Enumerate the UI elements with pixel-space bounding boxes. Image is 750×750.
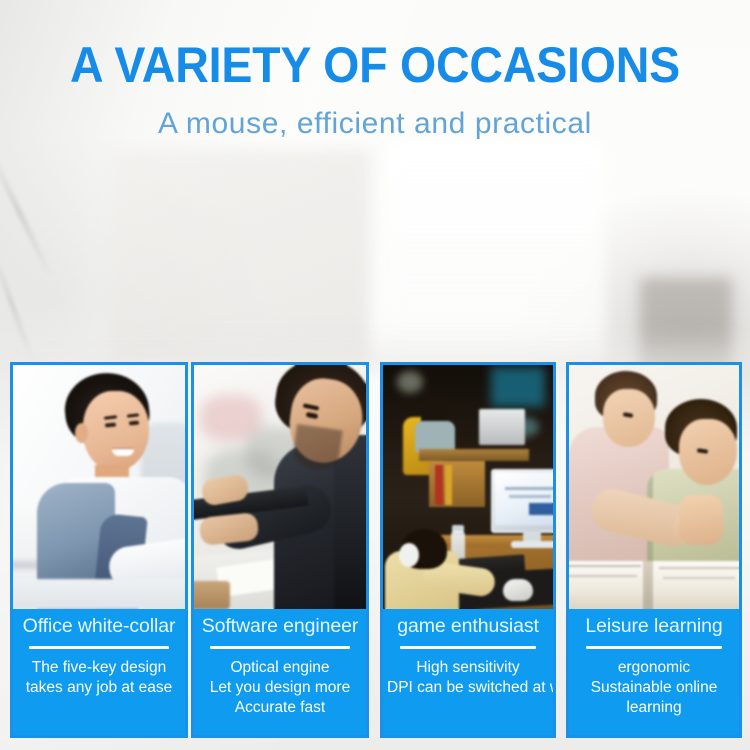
occasion-card-office-white-collar[interactable]: Office white-collar The five-key design … (10, 362, 188, 738)
caption-divider (210, 646, 350, 649)
card-title: Office white-collar (17, 613, 181, 639)
card-desc-line: Sustainable online (573, 678, 735, 698)
card-desc-line: ergonomic (573, 658, 735, 678)
caption-divider (400, 646, 536, 649)
card-desc-line: learning (573, 698, 735, 718)
software-engineer-photo (194, 365, 366, 609)
caption-divider (586, 646, 722, 649)
card-title: Software engineer (198, 613, 362, 639)
card-desc-line: Let you design more (198, 678, 362, 698)
page-subtitle: A mouse, efficient and practical (0, 107, 750, 142)
occasion-card-game-enthusiast[interactable]: game enthusiast High sensitivity DPI can… (380, 362, 556, 738)
promo-poster: A VARIETY OF OCCASIONS A mouse, efficien… (0, 0, 750, 750)
card-caption: Office white-collar The five-key design … (13, 609, 185, 698)
card-desc-line: Optical engine (198, 658, 362, 678)
occasion-card-software-engineer[interactable]: Software engineer Optical engine Let you… (191, 362, 369, 738)
caption-divider (29, 646, 169, 649)
card-desc-line: High sensitivity (387, 658, 549, 678)
card-title: game enthusiast (387, 613, 549, 639)
game-enthusiast-photo (383, 365, 553, 609)
card-caption: Leisure learning ergonomic Sustainable o… (569, 609, 739, 718)
occasion-card-leisure-learning[interactable]: Leisure learning ergonomic Sustainable o… (566, 362, 742, 738)
card-desc-line: takes any job at ease (17, 678, 181, 698)
leisure-learning-photo (569, 365, 739, 609)
card-caption: Software engineer Optical engine Let you… (194, 609, 366, 718)
card-title: Leisure learning (573, 613, 735, 639)
card-desc-line: DPI can be switched at w (387, 678, 549, 698)
card-desc-line: The five-key design (17, 658, 181, 678)
card-desc-line: Accurate fast (198, 698, 362, 718)
page-title: A VARIETY OF OCCASIONS (26, 40, 724, 90)
occasion-card-row: Office white-collar The five-key design … (0, 362, 750, 740)
background-streak (0, 151, 53, 279)
office-white-collar-photo (13, 365, 185, 609)
card-caption: game enthusiast High sensitivity DPI can… (383, 609, 553, 698)
